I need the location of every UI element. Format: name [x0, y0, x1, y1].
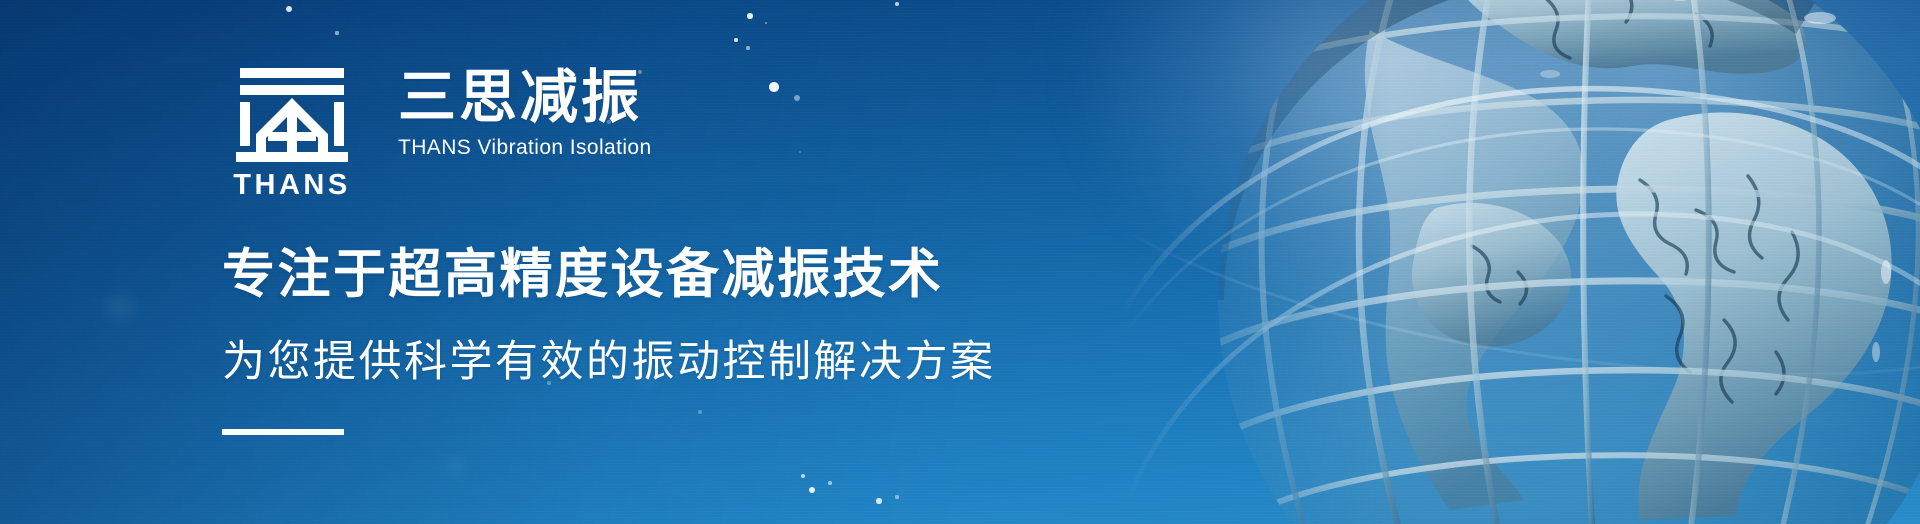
- brand-name-chinese: 三思减振: [398, 68, 652, 127]
- hero-banner: THANS 三思减振 THANS Vibration Isolation 专注于…: [0, 0, 1920, 524]
- company-logo[interactable]: THANS: [222, 62, 362, 200]
- logo-row: THANS 三思减振 THANS Vibration Isolation: [222, 62, 1222, 200]
- banner-content: THANS 三思减振 THANS Vibration Isolation 专注于…: [222, 62, 1222, 435]
- logo-wordmark: THANS: [233, 171, 350, 200]
- hero-subheadline: 为您提供科学有效的振动控制解决方案: [222, 339, 1222, 386]
- brand-name-english: THANS Vibration Isolation: [398, 137, 652, 158]
- brand-name-block: 三思减振 THANS Vibration Isolation: [398, 62, 652, 158]
- thans-monogram-icon: [236, 66, 348, 162]
- accent-rule: [222, 429, 344, 435]
- hero-headline: 专注于超高精度设备减振技术: [222, 246, 1222, 303]
